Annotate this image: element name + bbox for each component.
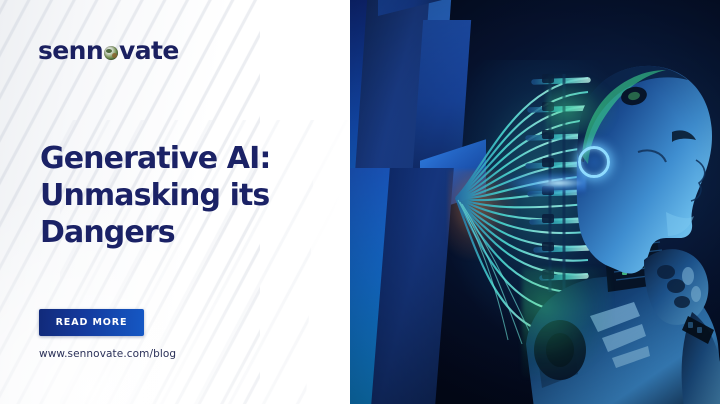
logo-text-after: vate bbox=[119, 38, 179, 63]
title-line-3: Dangers bbox=[40, 214, 340, 251]
title-line-2: Unmasking its bbox=[40, 177, 340, 214]
globe-icon bbox=[104, 46, 118, 60]
page-title: Generative AI: Unmasking its Dangers bbox=[40, 140, 340, 252]
artwork-panel bbox=[320, 0, 720, 404]
website-url-link[interactable]: www.sennovate.com/blog bbox=[39, 348, 176, 360]
logo-wordmark: sennvate bbox=[38, 38, 179, 63]
blog-promo-banner: sennvate Generative AI: Unmasking its Da… bbox=[0, 0, 720, 404]
sennovate-logo[interactable]: sennvate bbox=[38, 38, 179, 63]
read-more-button[interactable]: READ MORE bbox=[39, 309, 144, 336]
logo-text-before: senn bbox=[38, 38, 103, 63]
title-line-1: Generative AI: bbox=[40, 140, 340, 177]
robot-figure-icon bbox=[516, 44, 720, 404]
